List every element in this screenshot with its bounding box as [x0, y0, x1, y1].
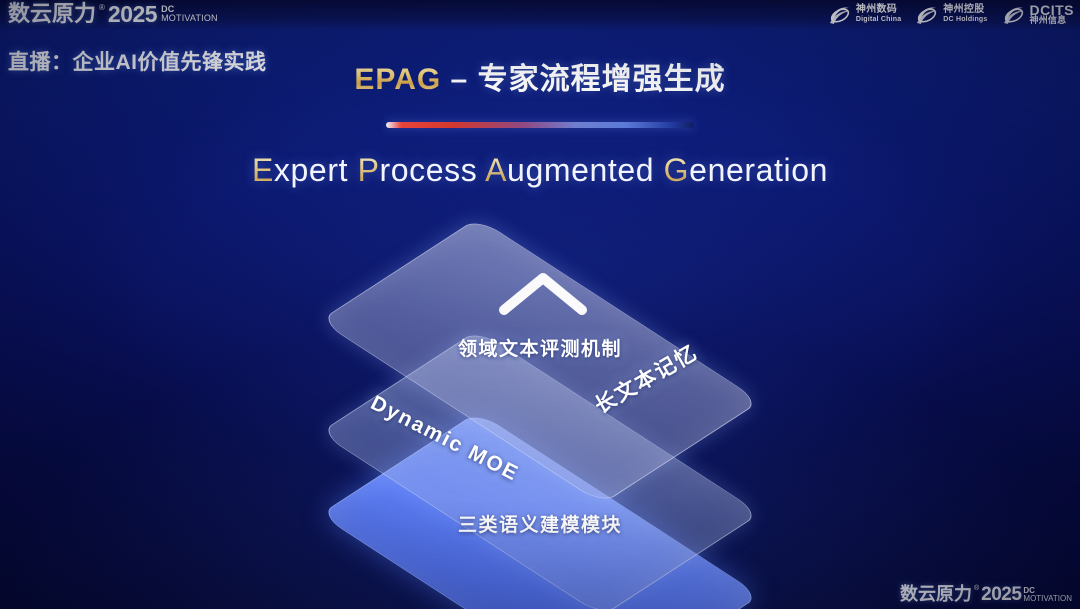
swirl-logo-icon — [915, 4, 939, 26]
swirl-logo-icon — [1002, 4, 1026, 26]
watermark-registered-mark-icon: ® — [974, 584, 979, 594]
brand-year: 2025 — [108, 1, 157, 27]
watermark-dc-line2: MOTIVATION — [1023, 595, 1072, 603]
partner-name-cn: 神州控股 — [943, 5, 987, 15]
watermark-year: 2025 — [981, 584, 1021, 605]
subtitle-part-5: ugmented — [507, 152, 664, 188]
watermark-dc-motivation: DC MOTIVATION — [1023, 587, 1072, 603]
slide-subtitle: Expert Process Augmented Generation — [0, 152, 1080, 189]
partner-name-en: 神州信息 — [1030, 15, 1075, 25]
subtitle-part-6: G — [664, 152, 690, 188]
slide-title-accent: EPAG — [354, 63, 441, 96]
partner-text: 神州控股 DC Holdings — [943, 5, 987, 25]
partner-name-en: DC Holdings — [943, 15, 987, 25]
partner-logo-dcits: DCITS 神州信息 — [1002, 4, 1075, 26]
swirl-logo-icon — [828, 4, 852, 26]
brand-logo: 数云原力 ® 2025 DC MOTIVATION — [8, 1, 218, 27]
partner-logo-digital-china: 神州数码 Digital China — [828, 4, 901, 26]
subtitle-part-1: xpert — [274, 152, 358, 188]
slide-title-rest: – 专家流程增强生成 — [441, 63, 725, 96]
registered-mark-icon: ® — [99, 2, 105, 14]
subtitle-part-7: eneration — [689, 152, 828, 188]
brand-name-cn: 数云原力 — [8, 1, 96, 27]
title-divider — [386, 122, 694, 128]
partner-name-cn: DCITS — [1030, 5, 1075, 15]
partner-name-cn: 神州数码 — [856, 5, 901, 15]
brand-dc-line2: MOTIVATION — [161, 14, 218, 23]
partner-text: DCITS 神州信息 — [1030, 5, 1075, 25]
layered-stack-diagram: 领域文本评测机制 Dynamic MOE 长文本记忆 三类语义建模模块 — [280, 222, 800, 570]
partner-logo-dc-holdings: 神州控股 DC Holdings — [915, 4, 987, 26]
partner-text: 神州数码 Digital China — [856, 5, 901, 25]
slide-stage: 数云原力 ® 2025 DC MOTIVATION 直播：企业AI价值先锋实践 … — [0, 0, 1080, 609]
partner-name-en: Digital China — [856, 15, 901, 25]
watermark-name-cn: 数云原力 — [900, 584, 972, 605]
subtitle-part-0: E — [252, 152, 274, 188]
subtitle-part-4: A — [485, 152, 507, 188]
watermark-logo: 数云原力 ® 2025 DC MOTIVATION — [900, 584, 1072, 605]
subtitle-part-3: rocess — [380, 152, 486, 188]
brand-dc-motivation: DC MOTIVATION — [161, 5, 218, 23]
slide-title: EPAG – 专家流程增强生成 — [0, 54, 1080, 98]
partner-logo-group: 神州数码 Digital China 神州控股 DC Holdings — [828, 4, 1074, 26]
subtitle-part-2: P — [358, 152, 380, 188]
